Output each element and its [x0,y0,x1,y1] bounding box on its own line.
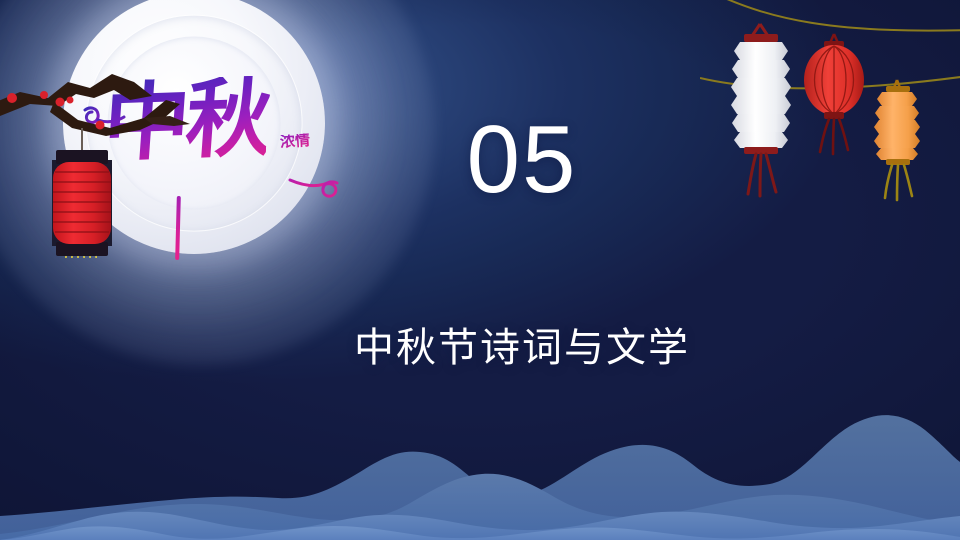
white-lantern-top-cap [744,34,778,42]
berry-icon [67,97,74,104]
lantern-tassel [65,256,98,258]
lantern-string-upper [720,0,960,31]
orange-lantern-top-cap [886,86,910,92]
section-title: 中秋节诗词与文学 [0,322,960,374]
mountain-silhouettes [0,400,960,540]
berry-icon [40,91,48,99]
berry-icon [7,93,17,103]
lantern-bottom-cap [56,242,108,256]
slide-canvas: 中秋 浓情 [0,0,960,540]
section-number: 05 [0,108,960,212]
berry-icon [56,98,65,107]
